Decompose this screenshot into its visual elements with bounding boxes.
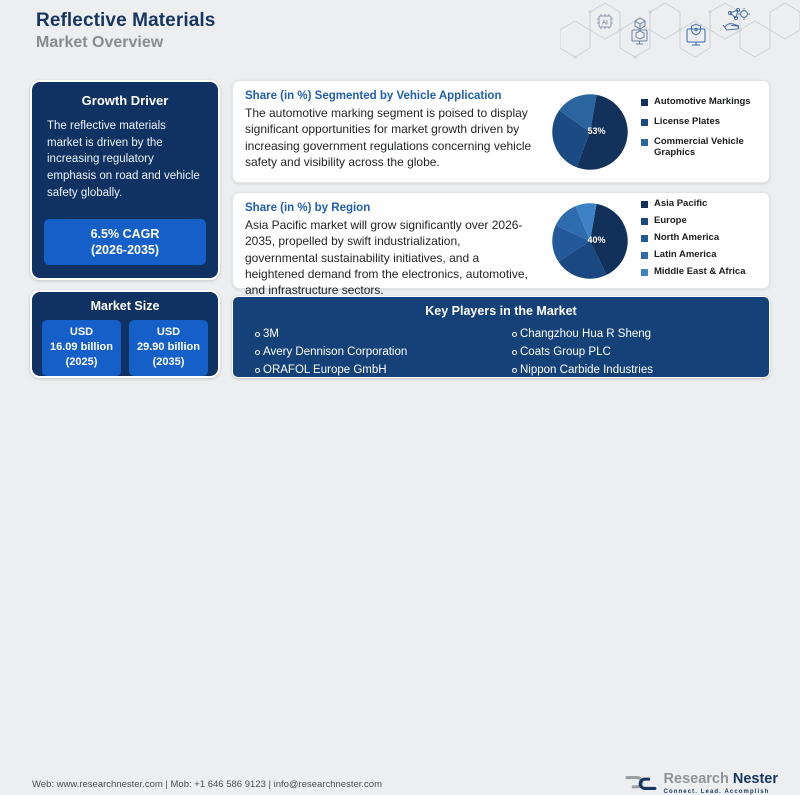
key-player-item: ORAFOL Europe GmbH	[255, 361, 512, 379]
market-size-boxes: USD 16.09 billion (2025) USD 29.90 billi…	[32, 313, 218, 376]
logo-name: Research Nester	[664, 772, 778, 787]
region-body: Asia Pacific market will grow significan…	[245, 217, 535, 299]
footer-contact: Web: www.researchnester.com | Mob: +1 64…	[32, 779, 382, 790]
legend-item: Middle East & Africa	[641, 266, 746, 278]
application-pie-label: 53%	[588, 126, 606, 136]
market-size-box-2025: USD 16.09 billion (2025)	[42, 320, 121, 376]
growth-driver-card: Growth Driver The reflective materials m…	[30, 80, 220, 280]
key-player-item: 3M	[255, 325, 512, 343]
key-player-name: Nippon Carbide Industries	[520, 361, 653, 379]
circle-bullet-icon	[255, 350, 260, 355]
key-player-item: Changzhou Hua R Sheng	[512, 325, 769, 343]
legend-swatch-icon	[641, 218, 648, 225]
logo-name-bold: Nester	[733, 771, 778, 787]
legend-swatch-icon	[641, 201, 648, 208]
region-heading: Share (in %) by Region	[245, 202, 535, 214]
region-chart-area: 40% Asia PacificEuropeNorth AmericaLatin…	[545, 193, 769, 288]
key-player-item: Nippon Carbide Industries	[512, 361, 769, 379]
circle-bullet-icon	[512, 368, 517, 373]
logo-tagline: Connect. Lead. Accomplish	[664, 789, 778, 795]
shield-monitor-icon	[687, 24, 705, 45]
legend-label: License Plates	[654, 116, 720, 128]
page-title: Reflective Materials	[36, 10, 215, 32]
cagr-badge: 6.5% CAGR (2026-2035)	[44, 219, 206, 266]
key-players-title: Key Players in the Market	[233, 304, 769, 318]
circle-bullet-icon	[512, 332, 517, 337]
circle-bullet-icon	[512, 350, 517, 355]
growth-driver-text: The reflective materials market is drive…	[32, 108, 218, 201]
legend-label: Middle East & Africa	[654, 266, 746, 278]
key-players-card: Key Players in the Market 3MAvery Dennis…	[232, 296, 770, 378]
market-size-box-2035: USD 29.90 billion (2035)	[129, 320, 208, 376]
value-label: 16.09 billion	[44, 340, 119, 355]
svg-text:AI: AI	[602, 21, 608, 27]
legend-label: Asia Pacific	[654, 198, 707, 210]
ai-chip-icon: AI	[597, 14, 613, 29]
legend-label: Latin America	[654, 249, 716, 261]
legend-swatch-icon	[641, 235, 648, 242]
circle-bullet-icon	[255, 368, 260, 373]
legend-swatch-icon	[641, 252, 648, 259]
infographic-page: Reflective Materials Market Overview	[0, 0, 800, 418]
key-player-name: Changzhou Hua R Sheng	[520, 325, 651, 343]
legend-item: Latin America	[641, 249, 746, 261]
legend-label: Commercial Vehicle Graphics	[654, 136, 769, 160]
cagr-period: (2026-2035)	[48, 242, 202, 258]
application-body: The automotive marking segment is poised…	[245, 105, 535, 170]
cagr-value: 6.5% CAGR	[48, 226, 202, 242]
region-legend: Asia PacificEuropeNorth AmericaLatin Ame…	[641, 198, 746, 282]
legend-item: Europe	[641, 215, 746, 227]
legend-swatch-icon	[641, 269, 648, 276]
legend-item: North America	[641, 232, 746, 244]
legend-item: Asia Pacific	[641, 198, 746, 210]
title-block: Reflective Materials Market Overview	[36, 10, 215, 52]
growth-driver-title: Growth Driver	[32, 93, 218, 108]
year-label: (2025)	[44, 355, 119, 370]
application-pie-chart: 53%	[549, 91, 631, 173]
key-player-name: Avery Dennison Corporation	[263, 343, 407, 361]
logo-name-light: Research	[664, 771, 733, 787]
legend-swatch-icon	[641, 119, 648, 126]
application-chart-area: 53% Automotive MarkingsLicense PlatesCom…	[545, 81, 769, 182]
header: Reflective Materials Market Overview	[0, 0, 800, 68]
year-label: (2035)	[131, 355, 206, 370]
value-label: 29.90 billion	[131, 340, 206, 355]
research-nester-logo: Research Nester Connect. Lead. Accomplis…	[624, 772, 778, 795]
legend-label: Automotive Markings	[654, 96, 751, 108]
key-player-item: Avery Dennison Corporation	[255, 343, 512, 361]
footer: Web: www.researchnester.com | Mob: +1 64…	[0, 384, 800, 418]
circle-bullet-icon	[255, 332, 260, 337]
legend-label: North America	[654, 232, 719, 244]
legend-label: Europe	[654, 215, 687, 227]
key-player-name: ORAFOL Europe GmbH	[263, 361, 387, 379]
legend-item: Commercial Vehicle Graphics	[641, 136, 769, 160]
hexagon-decoration: AI	[560, 0, 800, 70]
legend-item: License Plates	[641, 116, 769, 128]
currency-label: USD	[44, 325, 119, 340]
market-size-title: Market Size	[32, 299, 218, 313]
key-players-column-left: 3MAvery Dennison CorporationORAFOL Europ…	[255, 325, 512, 379]
application-heading: Share (in %) Segmented by Vehicle Applic…	[245, 90, 535, 102]
application-legend: Automotive MarkingsLicense PlatesCommerc…	[641, 96, 769, 168]
region-pie-label: 40%	[588, 235, 606, 245]
key-player-name: 3M	[263, 325, 279, 343]
key-players-column-right: Changzhou Hua R ShengCoats Group PLCNipp…	[512, 325, 769, 379]
vehicle-application-card: Share (in %) Segmented by Vehicle Applic…	[232, 80, 770, 183]
region-card: Share (in %) by Region Asia Pacific mark…	[232, 192, 770, 289]
region-pie-chart: 40%	[549, 200, 631, 282]
key-player-item: Coats Group PLC	[512, 343, 769, 361]
legend-item: Automotive Markings	[641, 96, 769, 108]
legend-swatch-icon	[641, 99, 648, 106]
logo-mark-icon	[624, 772, 658, 794]
legend-swatch-icon	[641, 139, 648, 146]
page-subtitle: Market Overview	[36, 34, 215, 52]
currency-label: USD	[131, 325, 206, 340]
key-player-name: Coats Group PLC	[520, 343, 611, 361]
market-size-card: Market Size USD 16.09 billion (2025) USD…	[30, 290, 220, 378]
